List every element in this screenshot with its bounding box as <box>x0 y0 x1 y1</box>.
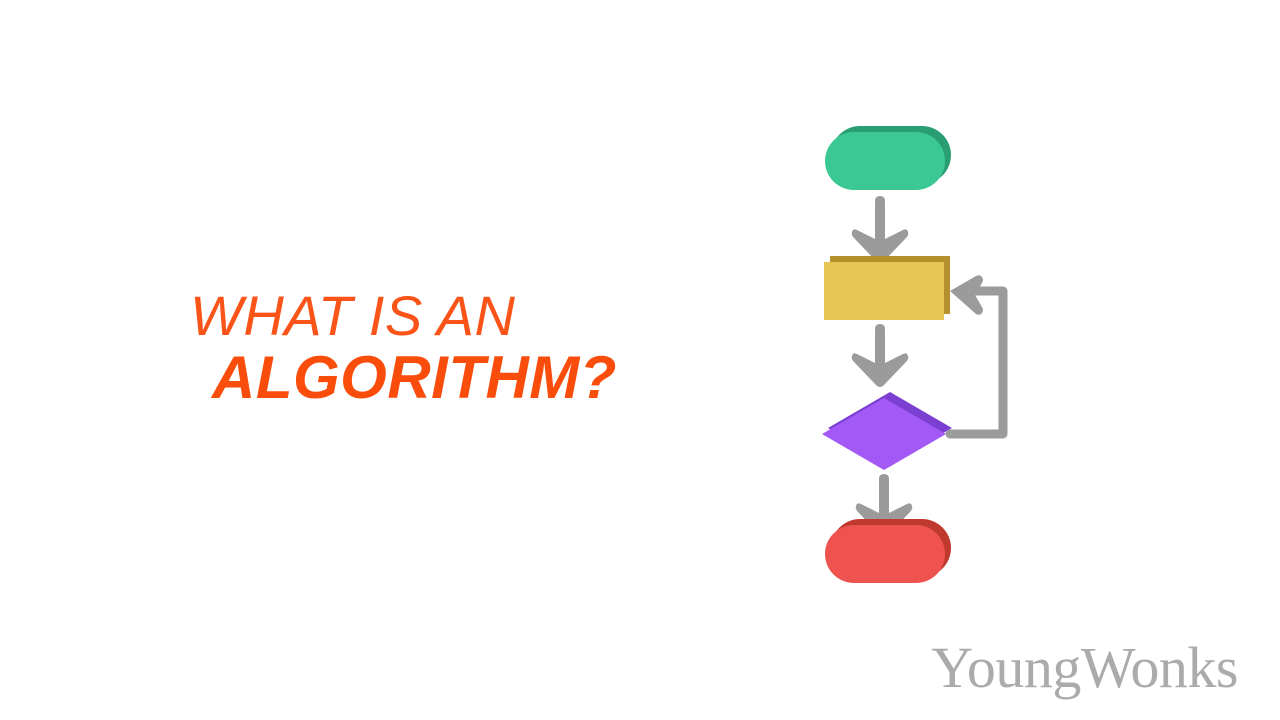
flow-node-process-fill <box>824 262 944 320</box>
flow-node-end-fill <box>825 525 945 583</box>
connector-decision-to-process-loop <box>950 275 1003 434</box>
arrow-down-icon <box>852 324 909 387</box>
flowchart-diagram <box>800 110 1060 610</box>
flow-node-decision[interactable] <box>822 392 952 470</box>
youngwonks-logo: YoungWonks <box>931 636 1238 700</box>
flow-node-start-fill <box>825 132 945 190</box>
flow-node-start[interactable] <box>825 126 951 190</box>
connector-start-to-process <box>852 196 909 263</box>
slide-canvas: WHAT IS AN ALGORITHM? <box>0 0 1280 720</box>
flow-node-end[interactable] <box>825 519 951 583</box>
connector-process-to-decision <box>852 324 909 387</box>
page-title: WHAT IS AN ALGORITHM? <box>190 286 660 410</box>
title-line-1: WHAT IS AN <box>190 286 660 346</box>
arrow-down-icon <box>852 196 909 263</box>
flow-node-decision-fill <box>822 398 946 470</box>
title-line-2: ALGORITHM? <box>190 346 660 410</box>
flow-node-process[interactable] <box>824 256 950 320</box>
